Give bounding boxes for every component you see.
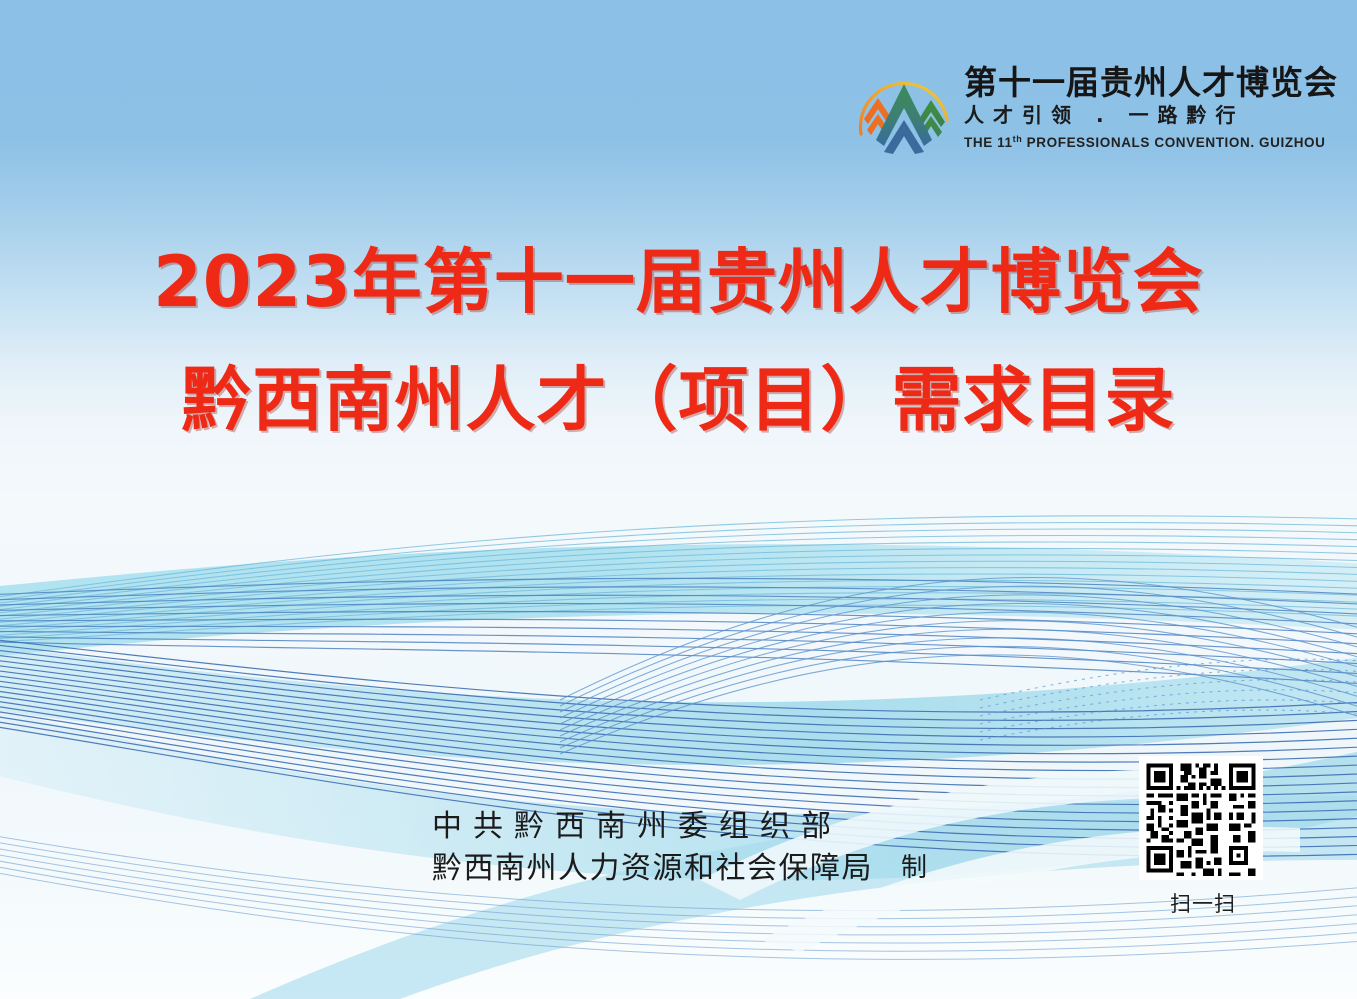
- issuer-line-top: 中共黔西南州委组织部: [432, 806, 873, 848]
- poster-cover: 第十一届贵州人才博览会 人才引领 . 一路黔行 THE 11th PROFESS…: [0, 0, 1357, 999]
- issuer-block: 中共黔西南州委组织部 黔西南州人力资源和社会保障局 制: [432, 806, 927, 890]
- qr-caption: 扫一扫: [1139, 888, 1267, 918]
- page-title: 2023年第十一届贵州人才博览会 黔西南州人才（项目）需求目录: [0, 236, 1357, 446]
- logo-text-block: 第十一届贵州人才博览会 人才引领 . 一路黔行 THE 11th PROFESS…: [964, 62, 1338, 153]
- logo-title-en-suffix: PROFESSIONALS CONVENTION. GUIZHOU: [1022, 135, 1325, 150]
- qr-block: 扫一扫: [1139, 756, 1267, 918]
- logo-title-en-prefix: THE 11: [964, 135, 1013, 150]
- logo-title-cn: 第十一届贵州人才博览会: [964, 64, 1338, 102]
- event-logo: 第十一届贵州人才博览会 人才引领 . 一路黔行 THE 11th PROFESS…: [852, 62, 1322, 172]
- title-line-1: 2023年第十一届贵州人才博览会: [0, 236, 1357, 328]
- issuer-line-bottom: 黔西南州人力资源和社会保障局: [432, 848, 873, 890]
- title-line-2: 黔西南州人才（项目）需求目录: [0, 354, 1357, 446]
- issuer-suffix: 制: [901, 847, 927, 884]
- logo-slogan-cn: 人才引领 . 一路黔行: [964, 102, 1338, 129]
- wechat-scan-qr-code[interactable]: [1139, 756, 1263, 880]
- mountain-logo-icon: [852, 62, 956, 162]
- logo-title-en: THE 11th PROFESSIONALS CONVENTION. GUIZH…: [964, 129, 1338, 153]
- logo-title-en-ordinal: th: [1013, 134, 1023, 144]
- issuer-names: 中共黔西南州委组织部 黔西南州人力资源和社会保障局: [432, 806, 873, 890]
